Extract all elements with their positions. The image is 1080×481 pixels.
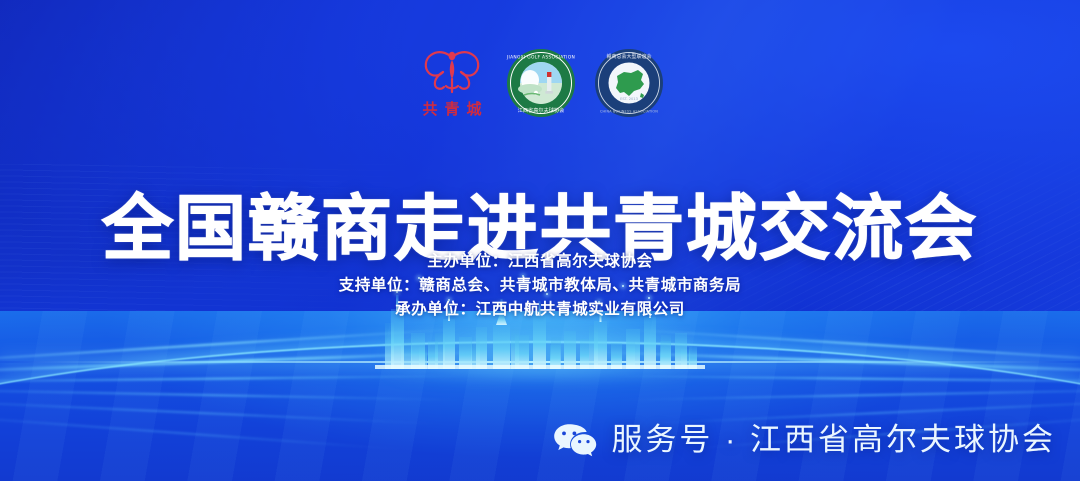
wechat-account-label: 服务号 · 江西省高尔夫球协会	[611, 421, 1056, 459]
organizer-line-undertaker: 承办单位：江西中航共青城实业有限公司	[0, 298, 1080, 322]
organizer-line-host: 主办单位：江西省高尔夫球协会	[0, 250, 1080, 274]
event-banner: 共 青 城 共青城 JIANGXI GOLF A	[0, 0, 1080, 481]
svg-text:青: 青	[444, 100, 459, 118]
svg-text:共: 共	[422, 100, 437, 118]
svg-text:赣商总会大型联谊会: 赣商总会大型联谊会	[606, 53, 651, 60]
svg-text:JIANGXI GOLF ASSOCIATION: JIANGXI GOLF ASSOCIATION	[506, 55, 575, 61]
china-association-logo: 赣商总会大型联谊会 EST. 2013 CHINA BUSINESS ASSOC…	[594, 48, 664, 118]
logo-row: 共 青 城 共青城 JIANGXI GOLF A	[0, 46, 1080, 120]
jiangxi-golf-association-logo: JIANGXI GOLF ASSOCIATION 江西省高尔夫球协会 JIANG…	[506, 48, 576, 118]
wechat-icon	[553, 421, 597, 459]
svg-text:江西省高尔夫球协会: 江西省高尔夫球协会	[518, 106, 565, 114]
svg-text:CHINA BUSINESS ASSOCIATION: CHINA BUSINESS ASSOCIATION	[600, 110, 658, 114]
svg-text:EST. 2013: EST. 2013	[620, 97, 638, 101]
organizer-line-support: 支持单位：赣商总会、共青城市教体局、共青城市商务局	[0, 274, 1080, 298]
organizer-list: 主办单位：江西省高尔夫球协会 支持单位：赣商总会、共青城市教体局、共青城市商务局…	[0, 250, 1080, 322]
wechat-service-account: 服务号 · 江西省高尔夫球协会	[553, 421, 1056, 459]
svg-text:城: 城	[466, 100, 481, 118]
gongqingcheng-phoenix-logo: 共 青 城 共青城	[416, 46, 488, 120]
